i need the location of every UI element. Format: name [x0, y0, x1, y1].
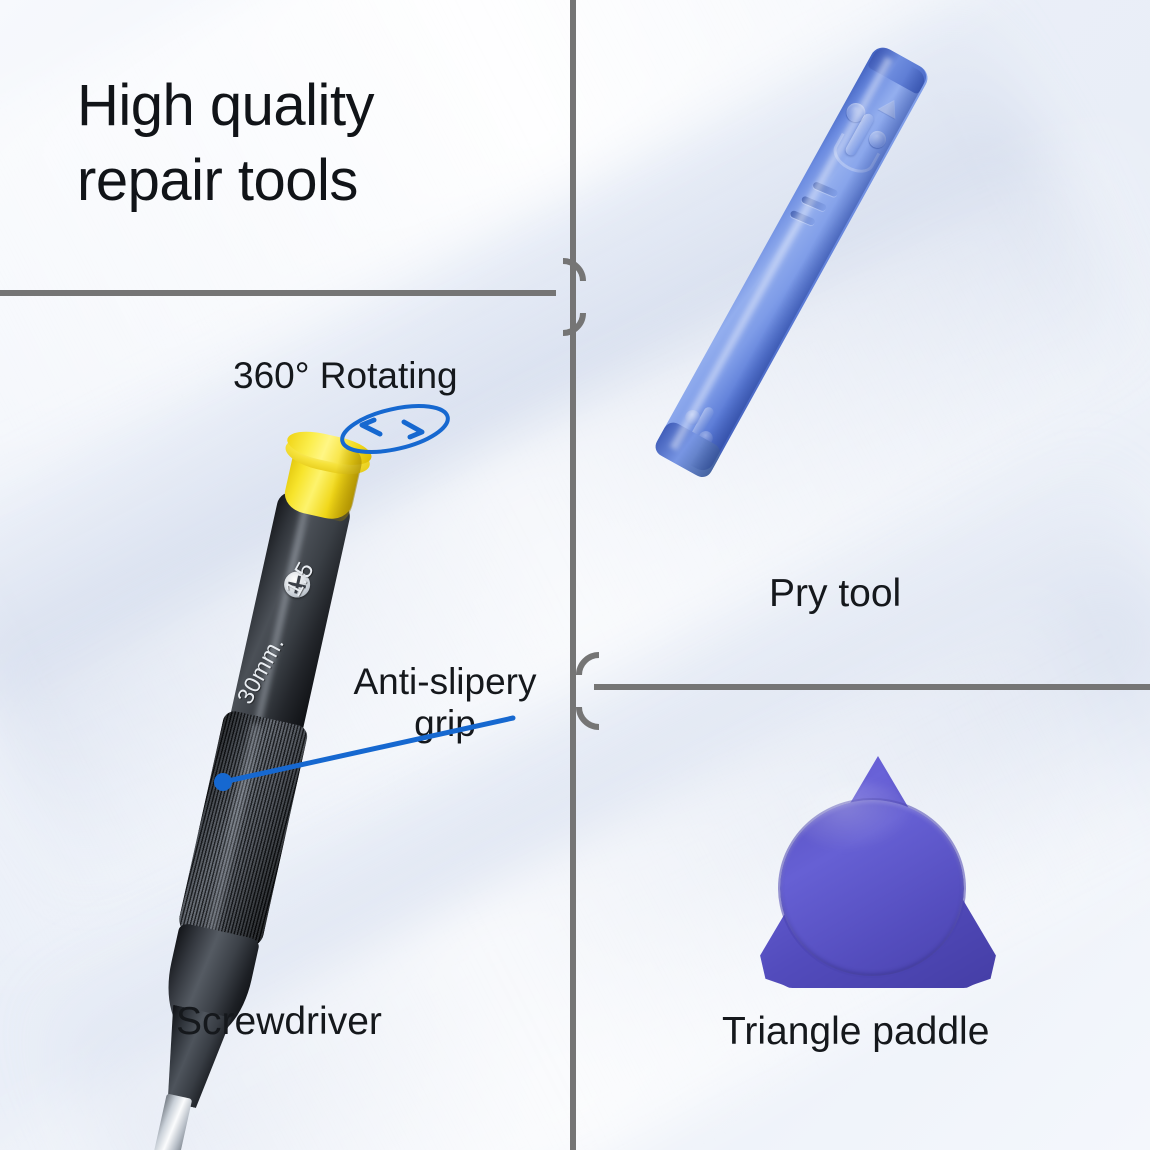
page-title-line-1: High quality	[77, 68, 547, 143]
rotation-arrow-icon	[330, 392, 460, 466]
divider-junction-right	[576, 652, 610, 686]
divider-horizontal-right	[594, 684, 1150, 690]
triangle-paddle-product-image	[744, 756, 1012, 988]
divider-vertical	[570, 0, 576, 1150]
product-infographic: High quality repair tools 1.5 30mm. 360°…	[0, 0, 1150, 1150]
caption-triangle-paddle: Triangle paddle	[722, 1010, 989, 1054]
page-title: High quality repair tools	[77, 68, 547, 219]
pry-tool-product-image	[742, 58, 1082, 538]
caption-screwdriver: Screwdriver	[176, 1000, 382, 1044]
page-title-line-2: repair tools	[77, 143, 547, 218]
divider-horizontal-left	[0, 290, 556, 296]
caption-pry-tool: Pry tool	[769, 572, 901, 616]
grip-leader-line	[195, 690, 545, 800]
annotation-360-rotating: 360° Rotating	[233, 355, 458, 397]
paddle-highlight	[796, 782, 916, 852]
divider-junction-top-left	[540, 258, 574, 292]
